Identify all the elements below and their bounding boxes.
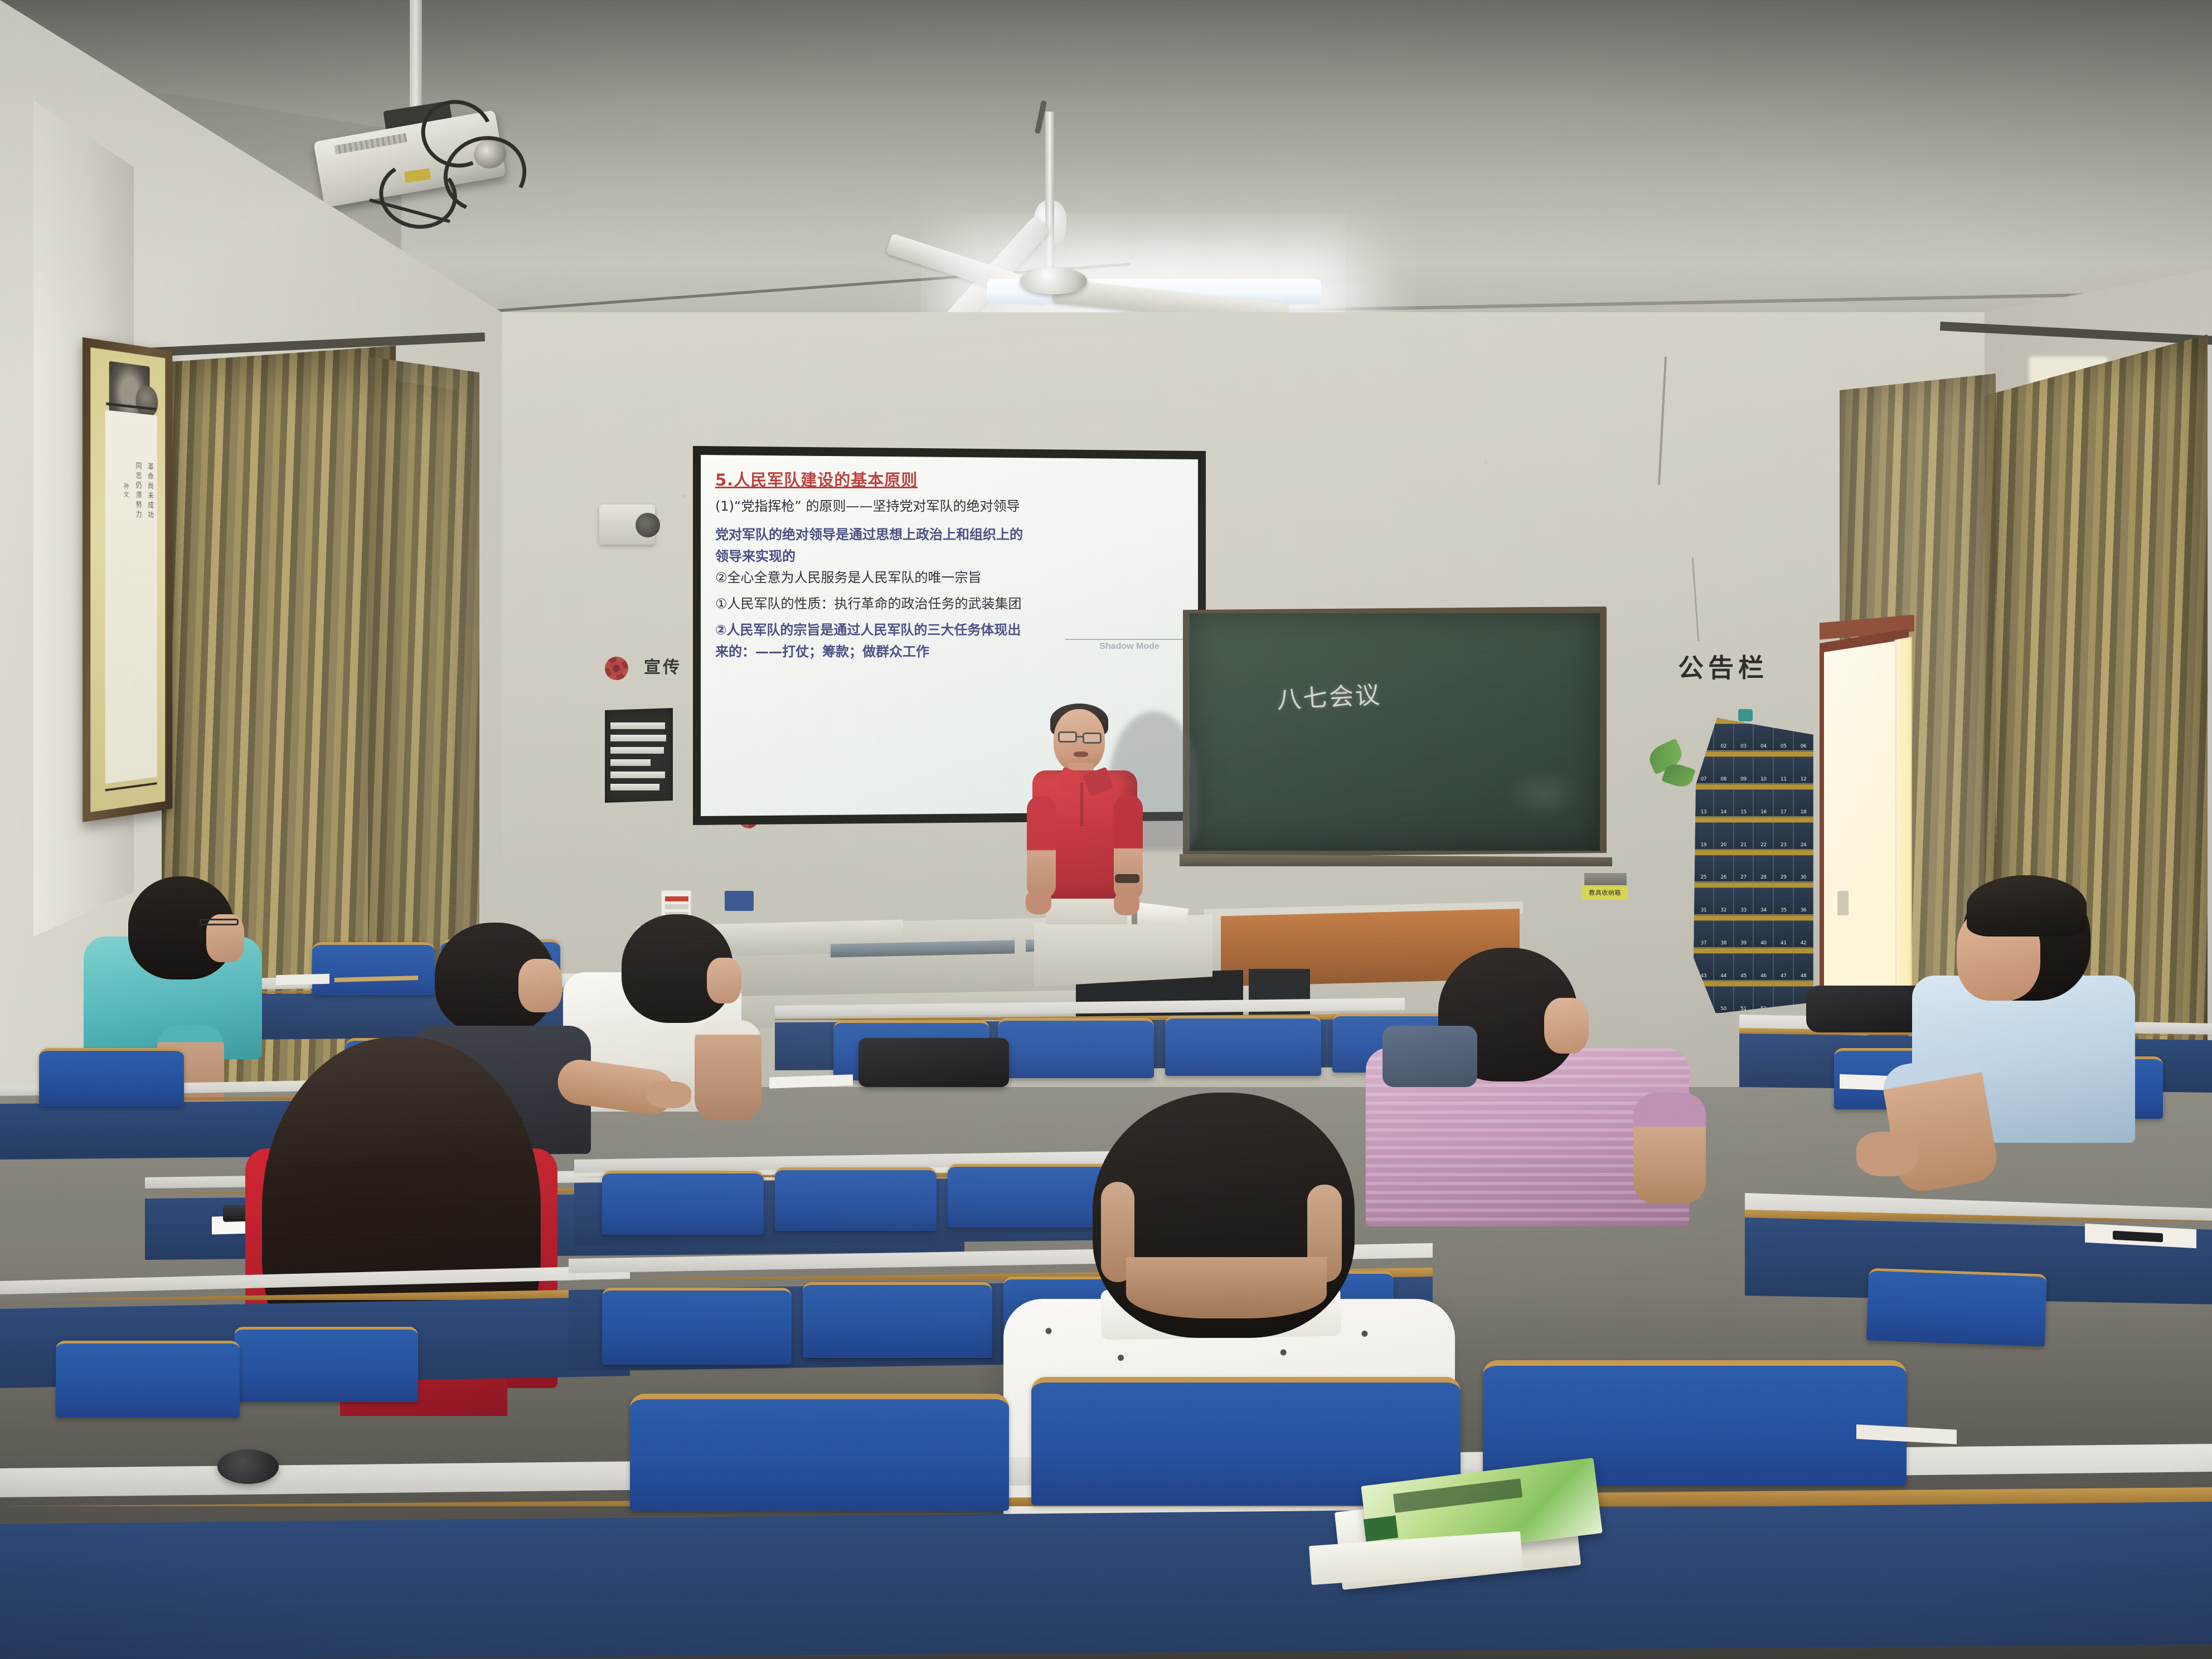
phone-pocket-number: 35: [1781, 908, 1787, 914]
small-round-object: [217, 1449, 279, 1484]
storage-box-shelf: [1584, 873, 1627, 885]
phone-pocket[interactable]: 24: [1793, 817, 1813, 850]
framed-portrait: 革命尚未成功 同志仍须努力 孙文: [83, 337, 172, 822]
chair[interactable]: [948, 1164, 1109, 1228]
phone-pocket-number: 31: [1701, 908, 1707, 914]
phone-pocket-number: 15: [1740, 809, 1747, 816]
pocket-hanger-hook: [1738, 709, 1753, 721]
student-pink-shoulder-bag: [1382, 1026, 1477, 1087]
phone-pocket[interactable]: 40: [1753, 915, 1773, 948]
phone-pocket-number: 44: [1720, 973, 1726, 980]
phone-pocket-number: 08: [1720, 777, 1726, 783]
calligraphy-line-2: 同志仍须努力: [134, 462, 142, 520]
phone-pocket-number: 47: [1781, 973, 1787, 980]
teacher-arm-left: [1027, 796, 1056, 899]
storage-box-tag: 教具收纳箱: [1582, 885, 1628, 900]
phone-pocket[interactable]: 15: [1734, 784, 1754, 817]
phone-pocket[interactable]: 11: [1773, 751, 1793, 784]
phone-pocket-number: 38: [1720, 940, 1726, 947]
phone-pocket[interactable]: 23: [1773, 817, 1793, 850]
phone-pocket[interactable]: 38: [1714, 915, 1734, 948]
door-opening-light: [1894, 637, 1912, 1027]
phone-pocket[interactable]: 35: [1773, 882, 1793, 915]
chair[interactable]: [56, 1341, 240, 1418]
book-spine-label: [1364, 1516, 1398, 1542]
teacher-hand-left: [1026, 890, 1051, 914]
chalk-smudge: [1505, 769, 1583, 819]
phone-pocket[interactable]: 28: [1753, 850, 1773, 882]
phone-pocket[interactable]: 08: [1714, 751, 1734, 784]
phone-pocket[interactable]: 09: [1734, 751, 1754, 784]
phone-pocket[interactable]: 18: [1793, 784, 1813, 817]
phone-pocket-number: 09: [1740, 777, 1747, 783]
phone-pocket-number: 28: [1760, 875, 1767, 881]
chair[interactable]: [1165, 1016, 1321, 1076]
phone-pocket[interactable]: 21: [1734, 817, 1754, 850]
phone-pocket[interactable]: 12: [1793, 751, 1813, 784]
phone-pocket-number: 24: [1801, 842, 1807, 849]
phone-pocket-number: 04: [1760, 744, 1767, 750]
chair[interactable]: [234, 1327, 418, 1402]
phone-pocket-number: 02: [1720, 744, 1726, 750]
projector-mount-pole: [410, 0, 422, 111]
phone-pocket-number: 30: [1801, 875, 1807, 881]
phone-pocket-number: 34: [1760, 908, 1767, 914]
phone-pocket-number: 10: [1760, 777, 1767, 783]
door-panel[interactable]: [1824, 641, 1895, 1041]
phone-pocket[interactable]: 46: [1753, 948, 1773, 981]
phone-pocket[interactable]: 25: [1694, 850, 1714, 882]
phone-pocket[interactable]: 30: [1793, 850, 1813, 882]
phone-pocket-number: 05: [1781, 744, 1787, 750]
phone-pocket[interactable]: 02: [1714, 718, 1734, 751]
phone-pocket[interactable]: 10: [1753, 751, 1773, 784]
teacher-hand-right: [1114, 892, 1139, 915]
fan-motor-hub: [1020, 268, 1087, 294]
student-dark-face: [518, 959, 562, 1012]
calligraphy-line-1: 革命尚未成功: [146, 463, 153, 521]
wristwatch-icon: [1115, 874, 1139, 883]
phone-pocket-number: 27: [1740, 875, 1747, 881]
phone-pocket-number: 37: [1701, 940, 1707, 947]
phone-pocket[interactable]: 16: [1753, 784, 1773, 817]
phone-pocket-number: 06: [1801, 744, 1807, 750]
exhaust-fan-icon: [636, 513, 660, 537]
chair[interactable]: [1866, 1268, 2047, 1346]
blackboard: [1183, 607, 1607, 857]
fan-downrod: [1045, 111, 1054, 279]
slide-watermark: Shadow Mode: [1065, 639, 1194, 652]
phone-pocket-number: 50: [1720, 1006, 1726, 1013]
chair[interactable]: [775, 1167, 937, 1231]
notice-board-sign: 公告栏: [1678, 648, 1768, 685]
phone-pocket[interactable]: 22: [1753, 817, 1773, 850]
phone-pocket-number: 19: [1701, 842, 1707, 849]
phone-pocket[interactable]: 34: [1753, 882, 1773, 915]
phone-pocket[interactable]: 45: [1734, 948, 1754, 981]
phone-pocket-number: 22: [1760, 842, 1767, 849]
phone-pocket-number: 39: [1740, 940, 1747, 947]
phone-pocket-number: 25: [1701, 875, 1707, 881]
frame-rule: [105, 782, 157, 791]
phone-pocket-number: 40: [1760, 940, 1767, 947]
frame-mat: 革命尚未成功 同志仍须努力 孙文: [90, 347, 165, 812]
phone-pocket-number: 14: [1720, 809, 1726, 816]
chair[interactable]: [998, 1018, 1154, 1078]
phone-pocket-number: 29: [1781, 875, 1787, 881]
blue-box: [725, 891, 754, 911]
teacher-arm-right: [1114, 795, 1143, 901]
phone-pocket-number: 03: [1740, 744, 1747, 750]
phone-pocket[interactable]: 14: [1714, 784, 1734, 817]
slide-line-2: 党对军队的绝对领导是通过思想上政治上和组织上的: [715, 527, 1183, 543]
student-white-arm: [695, 1020, 761, 1120]
glasses-icon: [200, 919, 239, 925]
phone-pocket[interactable]: 39: [1734, 915, 1754, 948]
blackboard-chalk-text: 八七会议: [1275, 675, 1382, 716]
phone-pocket[interactable]: 33: [1734, 882, 1754, 915]
phone-pocket-number: 13: [1701, 809, 1707, 816]
phone-pocket-number: 12: [1801, 777, 1807, 783]
student-polka-neck: [1126, 1257, 1327, 1318]
chair[interactable]: [39, 1048, 184, 1107]
phone-pocket-number: 11: [1781, 777, 1787, 783]
student-lightblue-hand: [1856, 1132, 1918, 1176]
classroom-photo: 革命尚未成功 同志仍须努力 孙文 宣传 5.人民军队建设的基本原则 (1)“党指…: [0, 0, 2212, 1659]
portrait-face: [136, 384, 158, 418]
phone-pocket-number: 23: [1781, 842, 1787, 849]
phone-pocket-number: 20: [1720, 842, 1726, 849]
chair[interactable]: [803, 1282, 992, 1358]
picture-frame: 革命尚未成功 同志仍须努力 孙文: [83, 337, 172, 822]
phone-pocket-number: 26: [1720, 875, 1726, 881]
publicity-sign: 宣传: [644, 653, 682, 678]
phone-pocket[interactable]: 13: [1694, 784, 1714, 817]
phone-pocket-number: 18: [1801, 809, 1807, 816]
phone-pocket-number: 45: [1740, 973, 1747, 980]
phone-pocket[interactable]: 29: [1773, 850, 1793, 882]
phone-pocket[interactable]: 32: [1714, 882, 1734, 915]
glasses-icon: [1058, 731, 1077, 743]
phone-pocket[interactable]: 47: [1773, 948, 1793, 981]
phone-pocket-number: 41: [1781, 940, 1787, 947]
phone-pocket-grid: 0102030405060708091011121314151617181920…: [1694, 718, 1813, 1013]
slide-line-4: ②全心全意为人民服务是人民军队的唯一宗旨: [715, 570, 1183, 586]
storage-box-tag-text: 教具收纳箱: [1589, 888, 1621, 897]
student-pink-arm: [1633, 1093, 1706, 1204]
phone-pocket[interactable]: 51: [1734, 981, 1754, 1013]
phone-pocket[interactable]: 36: [1793, 882, 1813, 915]
phone-pocket-number: 33: [1740, 908, 1747, 914]
phone-pocket-number: 32: [1720, 908, 1726, 914]
slide-title: 5.人民军队建设的基本原则: [715, 467, 1183, 491]
phone-pocket-number: 21: [1740, 842, 1747, 849]
chair[interactable]: [312, 942, 435, 995]
phone-pocket[interactable]: 48: [1793, 948, 1813, 981]
slide-line-5: ①人民军队的性质：执行革命的政治任务的武装集团: [715, 596, 1183, 612]
phone-pocket-number: 16: [1760, 809, 1767, 816]
student-dark-hand: [647, 1081, 691, 1108]
phone-pocket-number: 36: [1801, 908, 1807, 914]
phone-pocket-number: 48: [1801, 973, 1807, 980]
phone-pocket-number: 07: [1701, 777, 1707, 783]
glasses-icon: [1083, 733, 1102, 744]
student-pink-face: [1544, 998, 1589, 1054]
phone-pocket[interactable]: 44: [1714, 948, 1734, 981]
phone-pocket[interactable]: 41: [1773, 915, 1793, 948]
bulletin-board: [605, 708, 673, 803]
phone-pocket-number: 17: [1781, 809, 1787, 816]
slide-line-1: (1)“党指挥枪” 的原则——坚持党对军队的绝对领导: [715, 498, 1183, 515]
chair[interactable]: [602, 1288, 792, 1365]
phone-pocket[interactable]: 26: [1714, 850, 1734, 882]
flower-decoration-icon: [605, 657, 628, 680]
black-bag: [858, 1038, 1009, 1087]
teacher-mouth: [1074, 751, 1088, 757]
phone-pocket[interactable]: 42: [1793, 915, 1813, 948]
calligraphy-signature: 孙文: [123, 482, 129, 500]
phone-pocket[interactable]: 20: [1714, 817, 1734, 850]
chalk-eraser: [276, 974, 329, 986]
phone-pocket[interactable]: 27: [1734, 850, 1754, 882]
phone-pocket[interactable]: 31: [1694, 882, 1714, 915]
student-white-face: [707, 958, 741, 1003]
student-lightblue-hair: [1967, 875, 2087, 937]
calligraphy-paper: 革命尚未成功 同志仍须努力 孙文: [105, 410, 157, 783]
slide-line-6: ②人民军队的宗旨是通过人民军队的三大任务体现出: [715, 622, 1183, 638]
door-handle[interactable]: [1837, 891, 1849, 915]
chair[interactable]: [630, 1394, 1009, 1511]
phone-pocket[interactable]: 17: [1773, 784, 1793, 817]
phone-pocket[interactable]: 19: [1694, 817, 1714, 850]
phone-pocket[interactable]: 37: [1694, 915, 1714, 948]
glasses-bridge-icon: [1077, 736, 1084, 738]
slide-line-3: 领导来实现的: [715, 549, 1183, 565]
phone-pocket[interactable]: 50: [1714, 981, 1734, 1013]
teacher-shirt-placket: [1080, 783, 1083, 826]
chair[interactable]: [602, 1171, 764, 1235]
phone-pocket-number: 42: [1801, 940, 1807, 947]
phone-pocket-number: 46: [1760, 973, 1767, 980]
